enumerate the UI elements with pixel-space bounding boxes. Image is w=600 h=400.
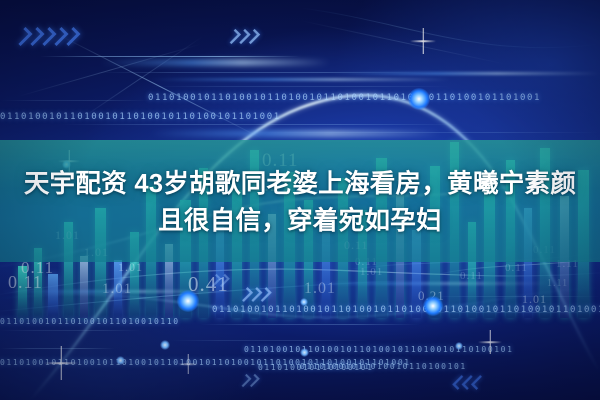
- vignette-overlay: [0, 0, 600, 400]
- banner-image: 0.110.211.110.111.011.010.110.111.011.01…: [0, 0, 600, 400]
